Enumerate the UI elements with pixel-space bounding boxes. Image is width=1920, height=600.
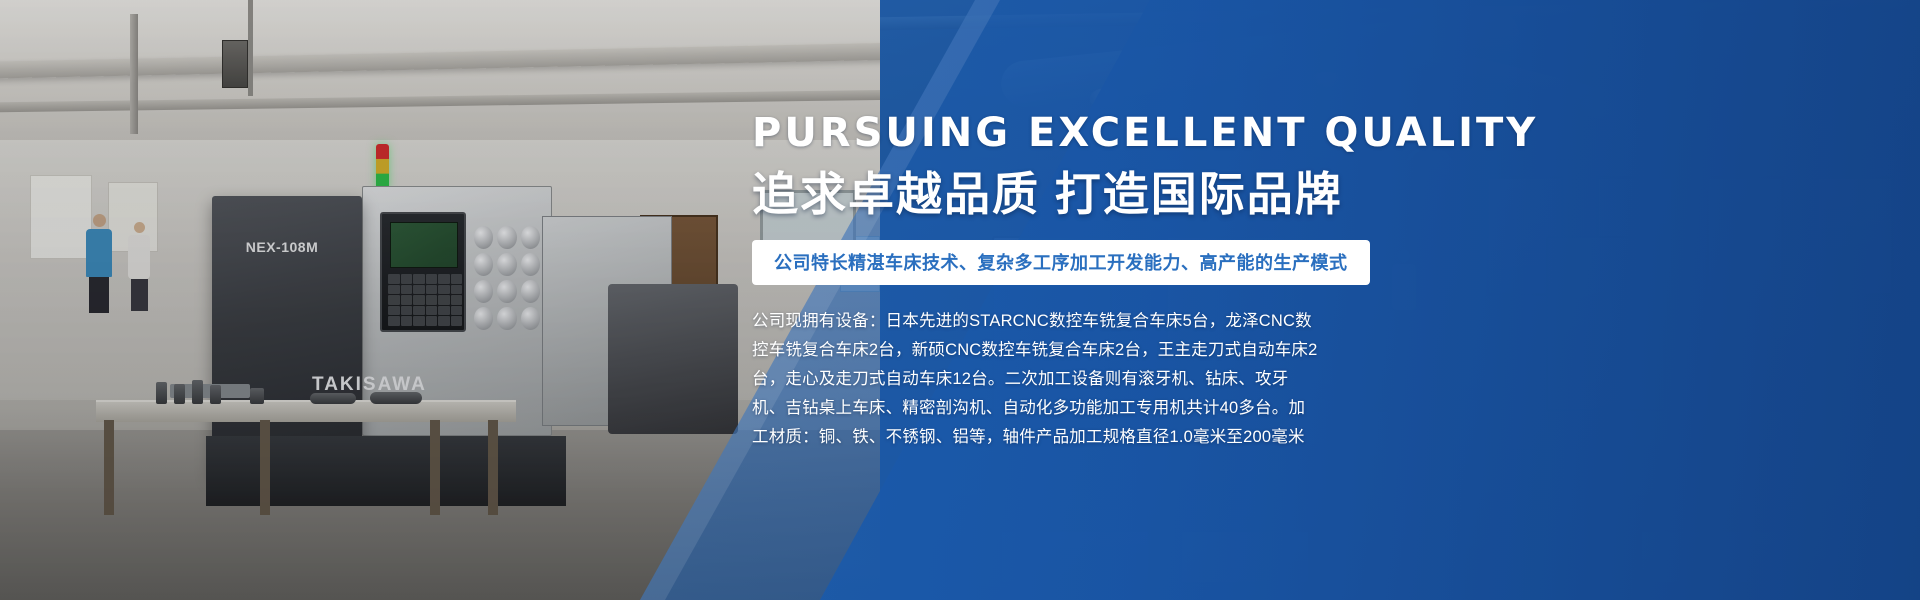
body-paragraph: 公司现拥有设备：日本先进的STARCNC数控车铣复合车床5台，龙泽CNC数控车铣… [752,307,1320,452]
subtitle-banner-bar: 公司特长精湛车床技术、复杂多工序加工开发能力、高产能的生产模式 [752,240,1370,285]
headline-english: PURSUING EXCELLENT QUALITY [752,108,1852,158]
subtitle-text: 公司特长精湛车床技术、复杂多工序加工开发能力、高产能的生产模式 [774,253,1348,273]
hero-banner: NEX-108M [0,0,1920,600]
banner-content: PURSUING EXCELLENT QUALITY 追求卓越品质 打造国际品牌… [752,108,1852,452]
headline-chinese: 追求卓越品质 打造国际品牌 [752,164,1852,224]
